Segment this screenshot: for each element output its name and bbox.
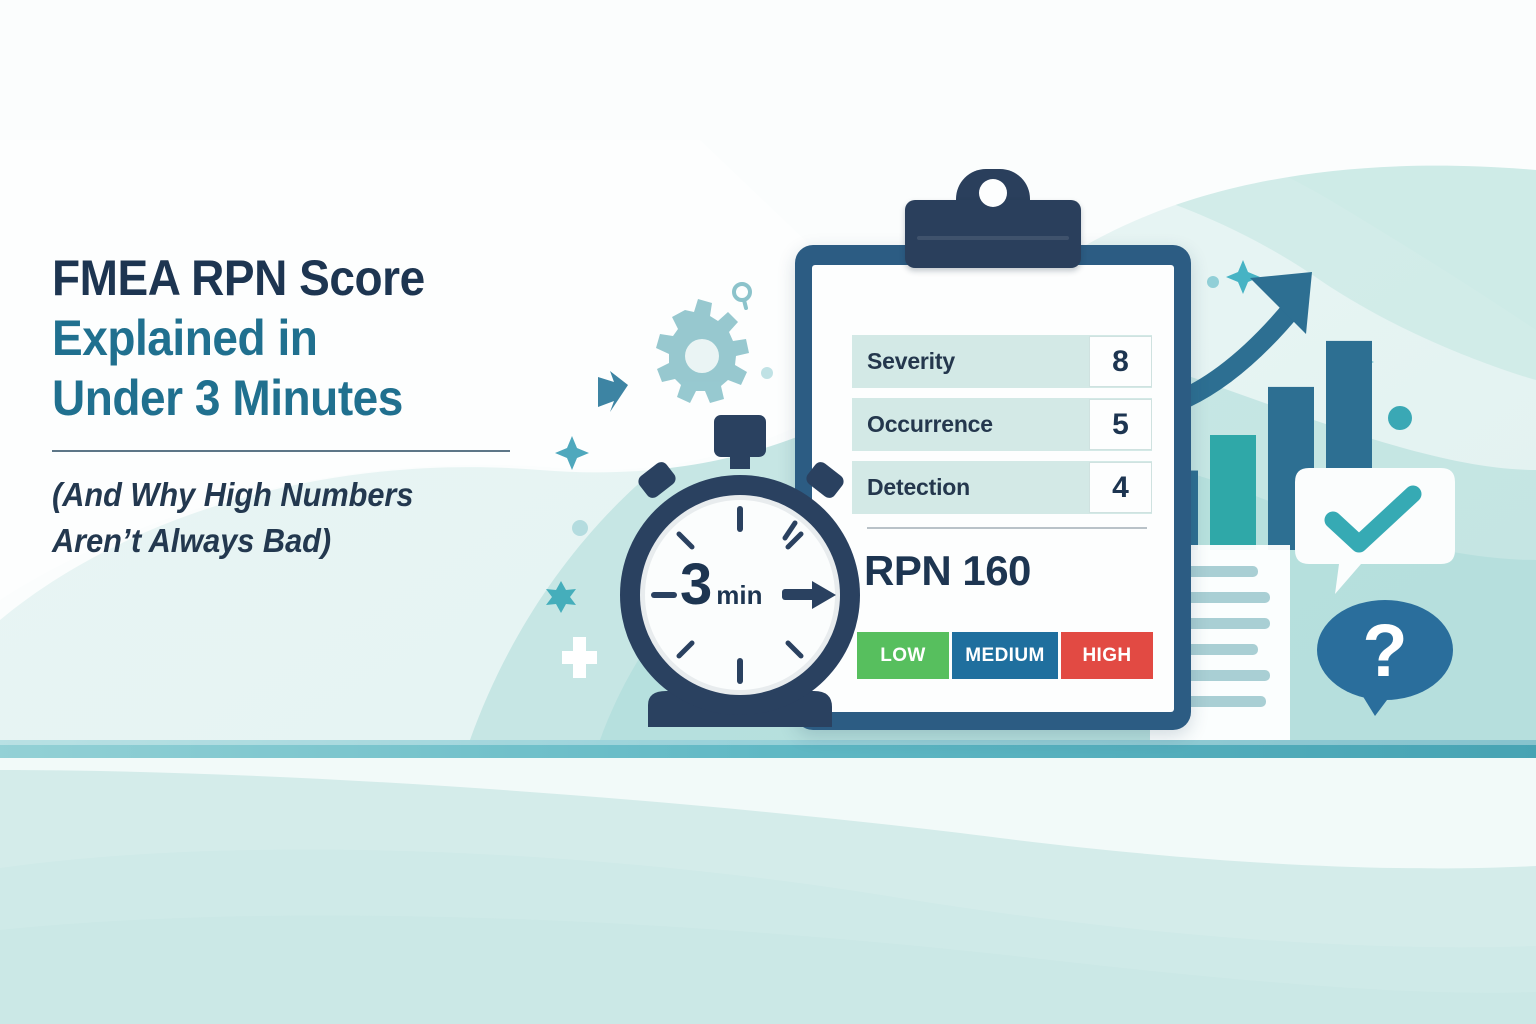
score-value-detection: 4 — [1089, 462, 1152, 513]
bar-1 — [1210, 435, 1256, 550]
check-speech-bubble — [1295, 468, 1455, 596]
table-row: Severity 8 — [852, 335, 1152, 388]
star-icon — [546, 581, 576, 613]
dot-icon — [761, 367, 773, 379]
table-row: Detection 4 — [852, 461, 1152, 514]
infographic-canvas: 3 min ? FMEA RPN Score Explained in Unde… — [0, 0, 1536, 1024]
rpn-divider — [867, 527, 1147, 529]
page-subtitle-line-2: Aren’t Always Bad) — [52, 518, 517, 564]
page-title-line-2: Explained in — [52, 308, 512, 368]
score-value-occurrence: 5 — [1089, 399, 1152, 450]
gear-icon — [656, 299, 749, 403]
clipboard-clip-groove — [917, 236, 1069, 240]
page-title-line-3: Under 3 Minutes — [52, 368, 512, 428]
plus-icon — [562, 637, 597, 678]
score-label-severity: Severity — [852, 348, 955, 375]
question-speech-bubble: ? — [1315, 598, 1455, 718]
sparkle-icon — [555, 436, 589, 470]
table-row: Occurrence 5 — [852, 398, 1152, 451]
rpn-total: RPN 160 — [864, 547, 1031, 595]
title-divider — [52, 450, 510, 452]
title-block: FMEA RPN Score Explained in Under 3 Minu… — [52, 248, 552, 564]
clipboard-clip-hole — [979, 179, 1007, 207]
stopwatch-icon — [600, 405, 880, 735]
question-mark-icon: ? — [1362, 609, 1407, 692]
score-table: Severity 8 Occurrence 5 Detection 4 — [852, 335, 1152, 524]
risk-level-legend: LOW MEDIUM HIGH — [857, 632, 1153, 679]
ring-icon — [734, 284, 750, 308]
dot-icon — [572, 520, 588, 536]
page-subtitle-line-1: (And Why High Numbers — [52, 472, 517, 518]
clipboard-clip — [905, 200, 1081, 268]
status-badge-medium: MEDIUM — [952, 632, 1058, 679]
score-value-severity: 8 — [1089, 336, 1152, 387]
page-title-line-1: FMEA RPN Score — [52, 248, 512, 308]
status-badge-high: HIGH — [1061, 632, 1153, 679]
